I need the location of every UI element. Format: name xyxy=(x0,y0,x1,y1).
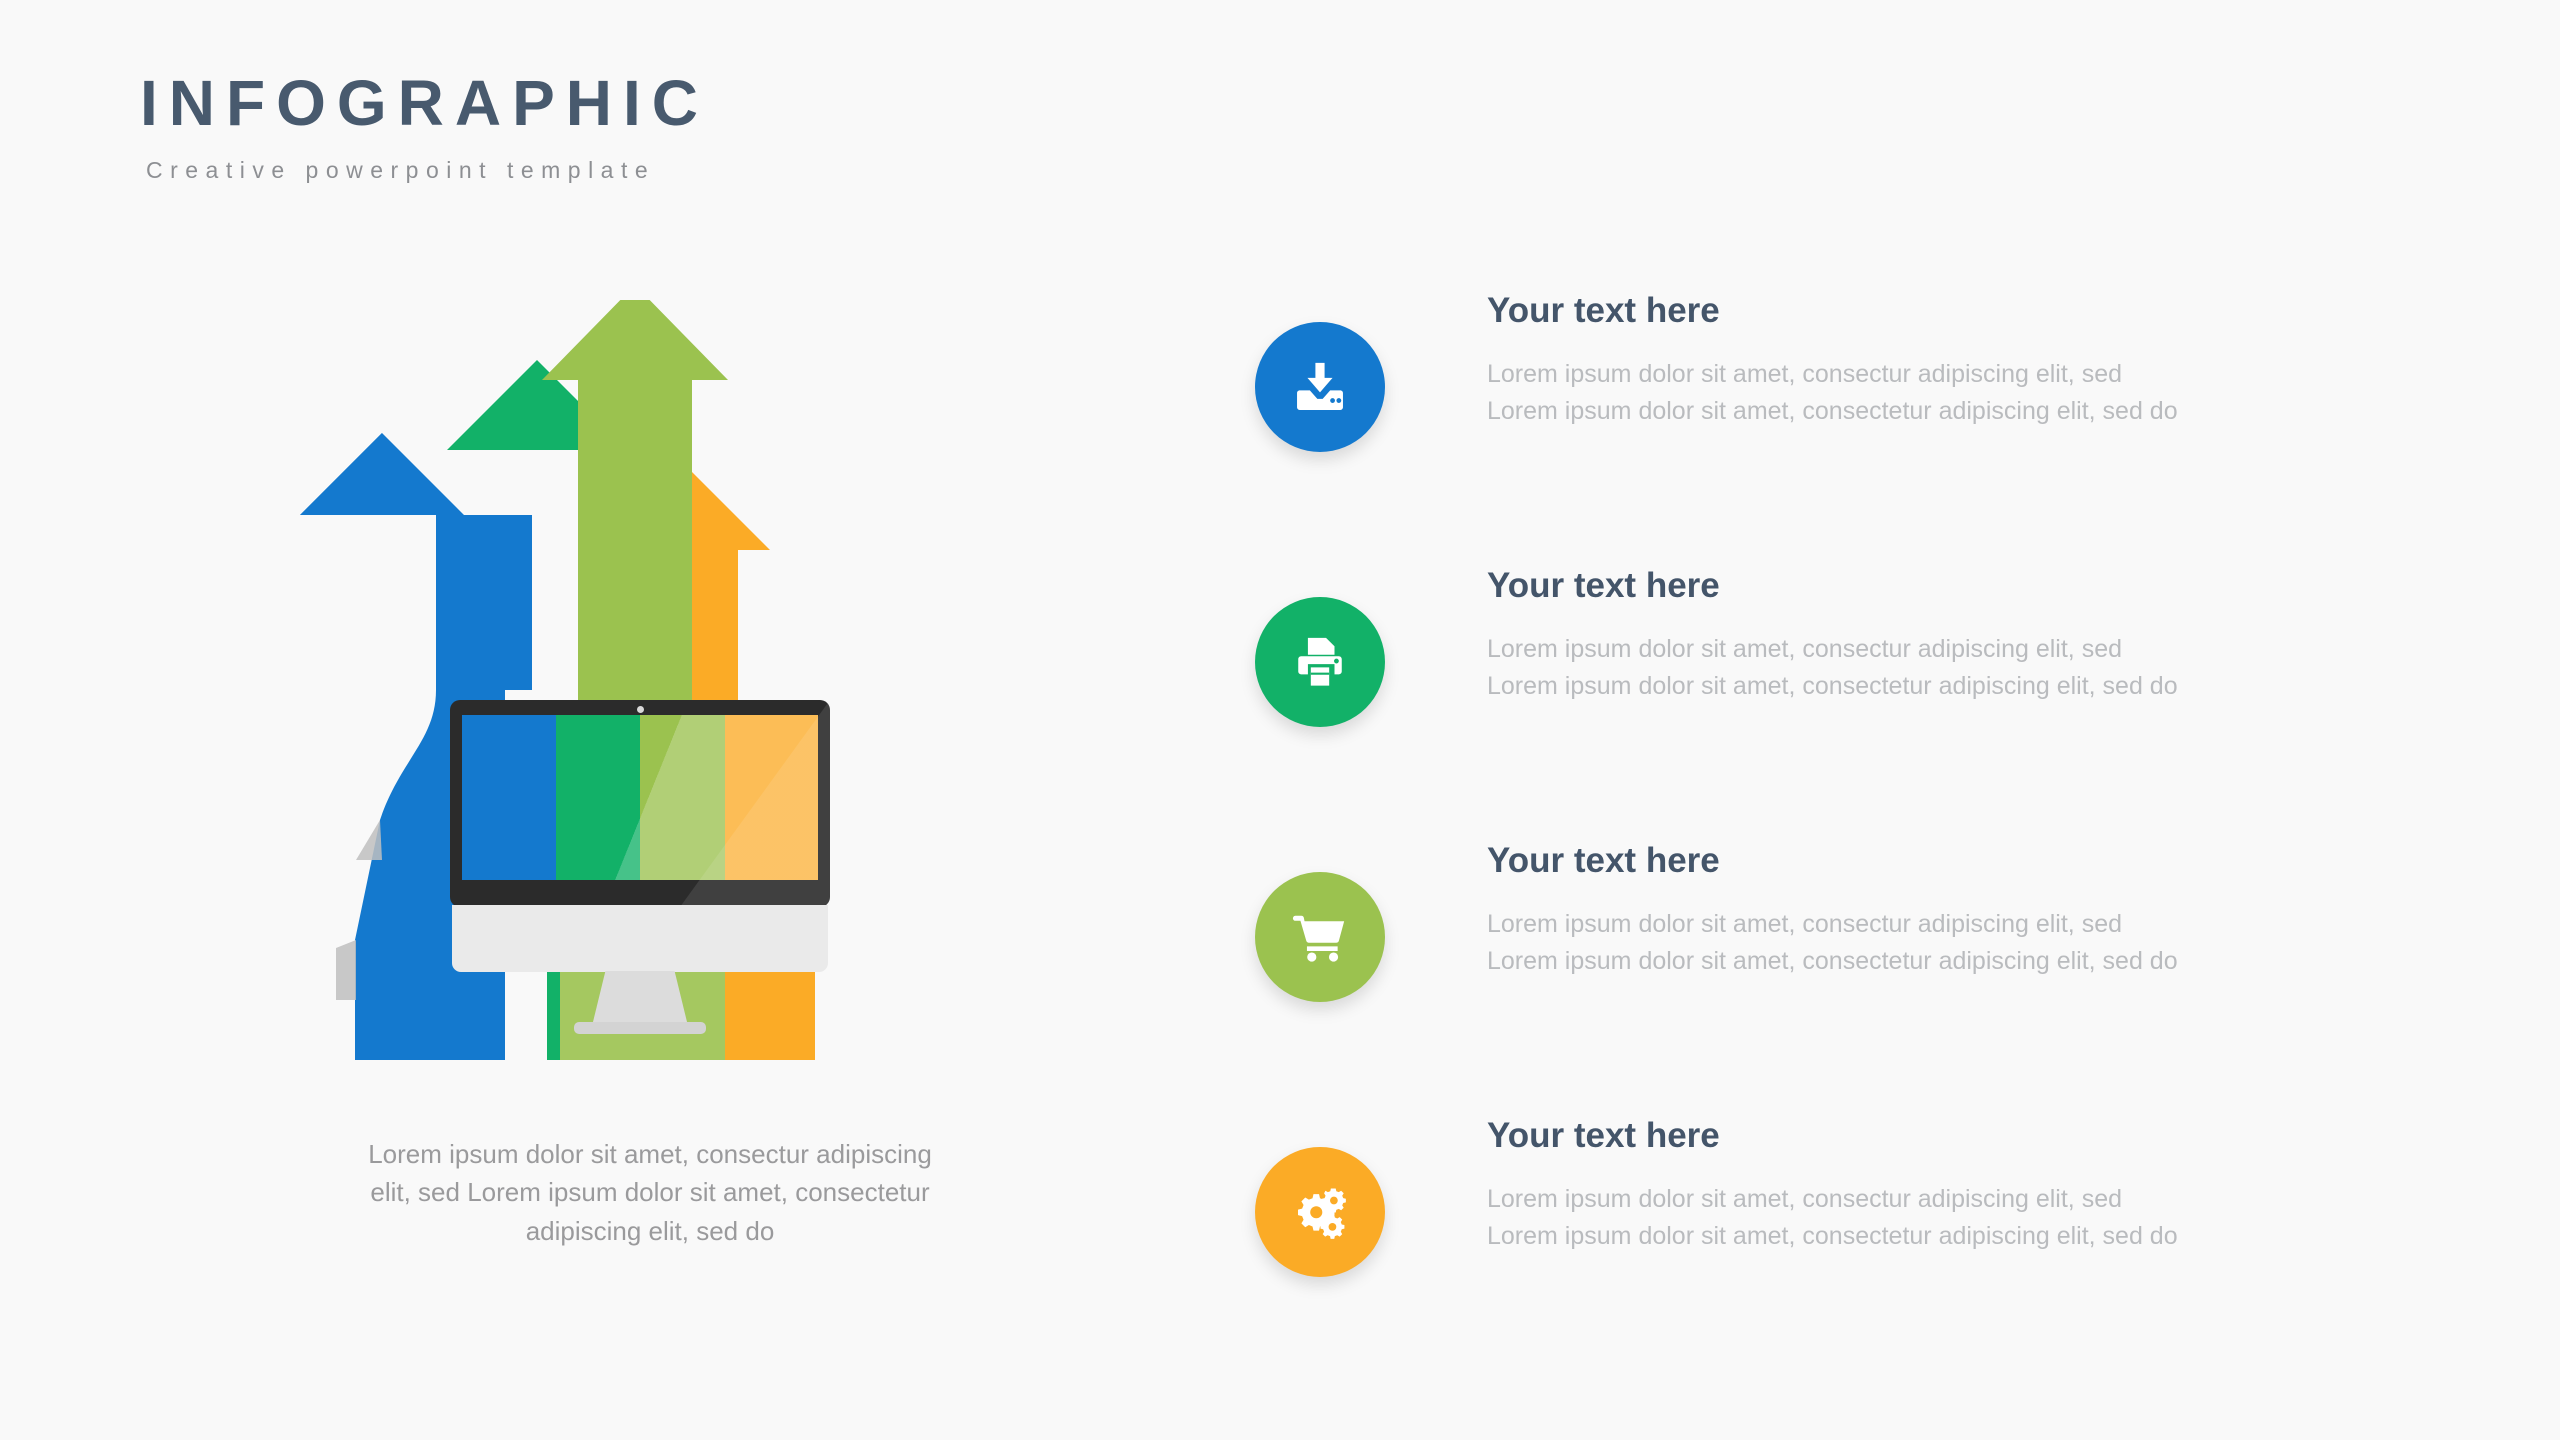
webcam-icon xyxy=(637,706,644,713)
illustration-caption: Lorem ipsum dolor sit amet, consectur ad… xyxy=(255,1135,1045,1250)
feature-desc-line-2: Lorem ipsum dolor sit amet, consectetur … xyxy=(1487,943,2487,980)
caption-line-2: elit, sed Lorem ipsum dolor sit amet, co… xyxy=(255,1173,1045,1211)
header: INFOGRAPHIC Creative powerpoint template xyxy=(140,70,709,184)
download-icon xyxy=(1291,358,1349,416)
feature-body: Your text here Lorem ipsum dolor sit ame… xyxy=(1487,1115,2487,1255)
feature-desc-line-1: Lorem ipsum dolor sit amet, consectur ad… xyxy=(1487,631,2487,668)
page-subtitle: Creative powerpoint template xyxy=(146,157,709,184)
caption-line-1: Lorem ipsum dolor sit amet, consectur ad… xyxy=(255,1135,1045,1173)
arrow-base-shadow-left xyxy=(356,820,382,860)
screen-band-green xyxy=(556,715,640,880)
monitor-base xyxy=(452,905,828,972)
feature-description: Lorem ipsum dolor sit amet, consectur ad… xyxy=(1487,631,2487,705)
feature-desc-line-1: Lorem ipsum dolor sit amet, consectur ad… xyxy=(1487,906,2487,943)
feature-description: Lorem ipsum dolor sit amet, consectur ad… xyxy=(1487,356,2487,430)
infographic-slide: INFOGRAPHIC Creative powerpoint template xyxy=(0,0,2560,1440)
feature-title: Your text here xyxy=(1487,290,2487,332)
feature-desc-line-2: Lorem ipsum dolor sit amet, consectetur … xyxy=(1487,668,2487,705)
list-item: Your text here Lorem ipsum dolor sit ame… xyxy=(1255,290,2495,565)
feature-desc-line-1: Lorem ipsum dolor sit amet, consectur ad… xyxy=(1487,356,2487,393)
feature-icon-badge-cart[interactable] xyxy=(1255,872,1385,1002)
list-item: Your text here Lorem ipsum dolor sit ame… xyxy=(1255,565,2495,840)
feature-description: Lorem ipsum dolor sit amet, consectur ad… xyxy=(1487,1181,2487,1255)
feature-icon-badge-printer[interactable] xyxy=(1255,597,1385,727)
monitor-graphic xyxy=(450,700,830,1020)
feature-description: Lorem ipsum dolor sit amet, consectur ad… xyxy=(1487,906,2487,980)
arrow-base-shadow-left2 xyxy=(336,940,356,1000)
shopping-cart-icon xyxy=(1291,908,1349,966)
feature-list: Your text here Lorem ipsum dolor sit ame… xyxy=(1255,290,2495,1390)
list-item: Your text here Lorem ipsum dolor sit ame… xyxy=(1255,1115,2495,1390)
screen-band-blue xyxy=(462,715,556,880)
feature-title: Your text here xyxy=(1487,565,2487,607)
feature-desc-line-2: Lorem ipsum dolor sit amet, consectetur … xyxy=(1487,393,2487,430)
arrow-blue-shadow xyxy=(300,433,382,515)
feature-icon-badge-download[interactable] xyxy=(1255,322,1385,452)
feature-body: Your text here Lorem ipsum dolor sit ame… xyxy=(1487,290,2487,430)
gears-icon xyxy=(1291,1183,1349,1241)
monitor-bezel xyxy=(450,700,830,907)
monitor-stand-foot xyxy=(574,1022,706,1034)
monitor-stand-neck xyxy=(592,971,688,1026)
page-title: INFOGRAPHIC xyxy=(140,70,709,137)
illustration xyxy=(270,300,970,1060)
feature-title: Your text here xyxy=(1487,1115,2487,1157)
feature-body: Your text here Lorem ipsum dolor sit ame… xyxy=(1487,565,2487,705)
feature-title: Your text here xyxy=(1487,840,2487,882)
printer-icon xyxy=(1291,633,1349,691)
list-item: Your text here Lorem ipsum dolor sit ame… xyxy=(1255,840,2495,1115)
feature-desc-line-1: Lorem ipsum dolor sit amet, consectur ad… xyxy=(1487,1181,2487,1218)
feature-desc-line-2: Lorem ipsum dolor sit amet, consectetur … xyxy=(1487,1218,2487,1255)
caption-line-3: adipiscing elit, sed do xyxy=(255,1212,1045,1250)
feature-icon-badge-gears[interactable] xyxy=(1255,1147,1385,1277)
screen-band-light-green xyxy=(640,715,725,880)
feature-body: Your text here Lorem ipsum dolor sit ame… xyxy=(1487,840,2487,980)
